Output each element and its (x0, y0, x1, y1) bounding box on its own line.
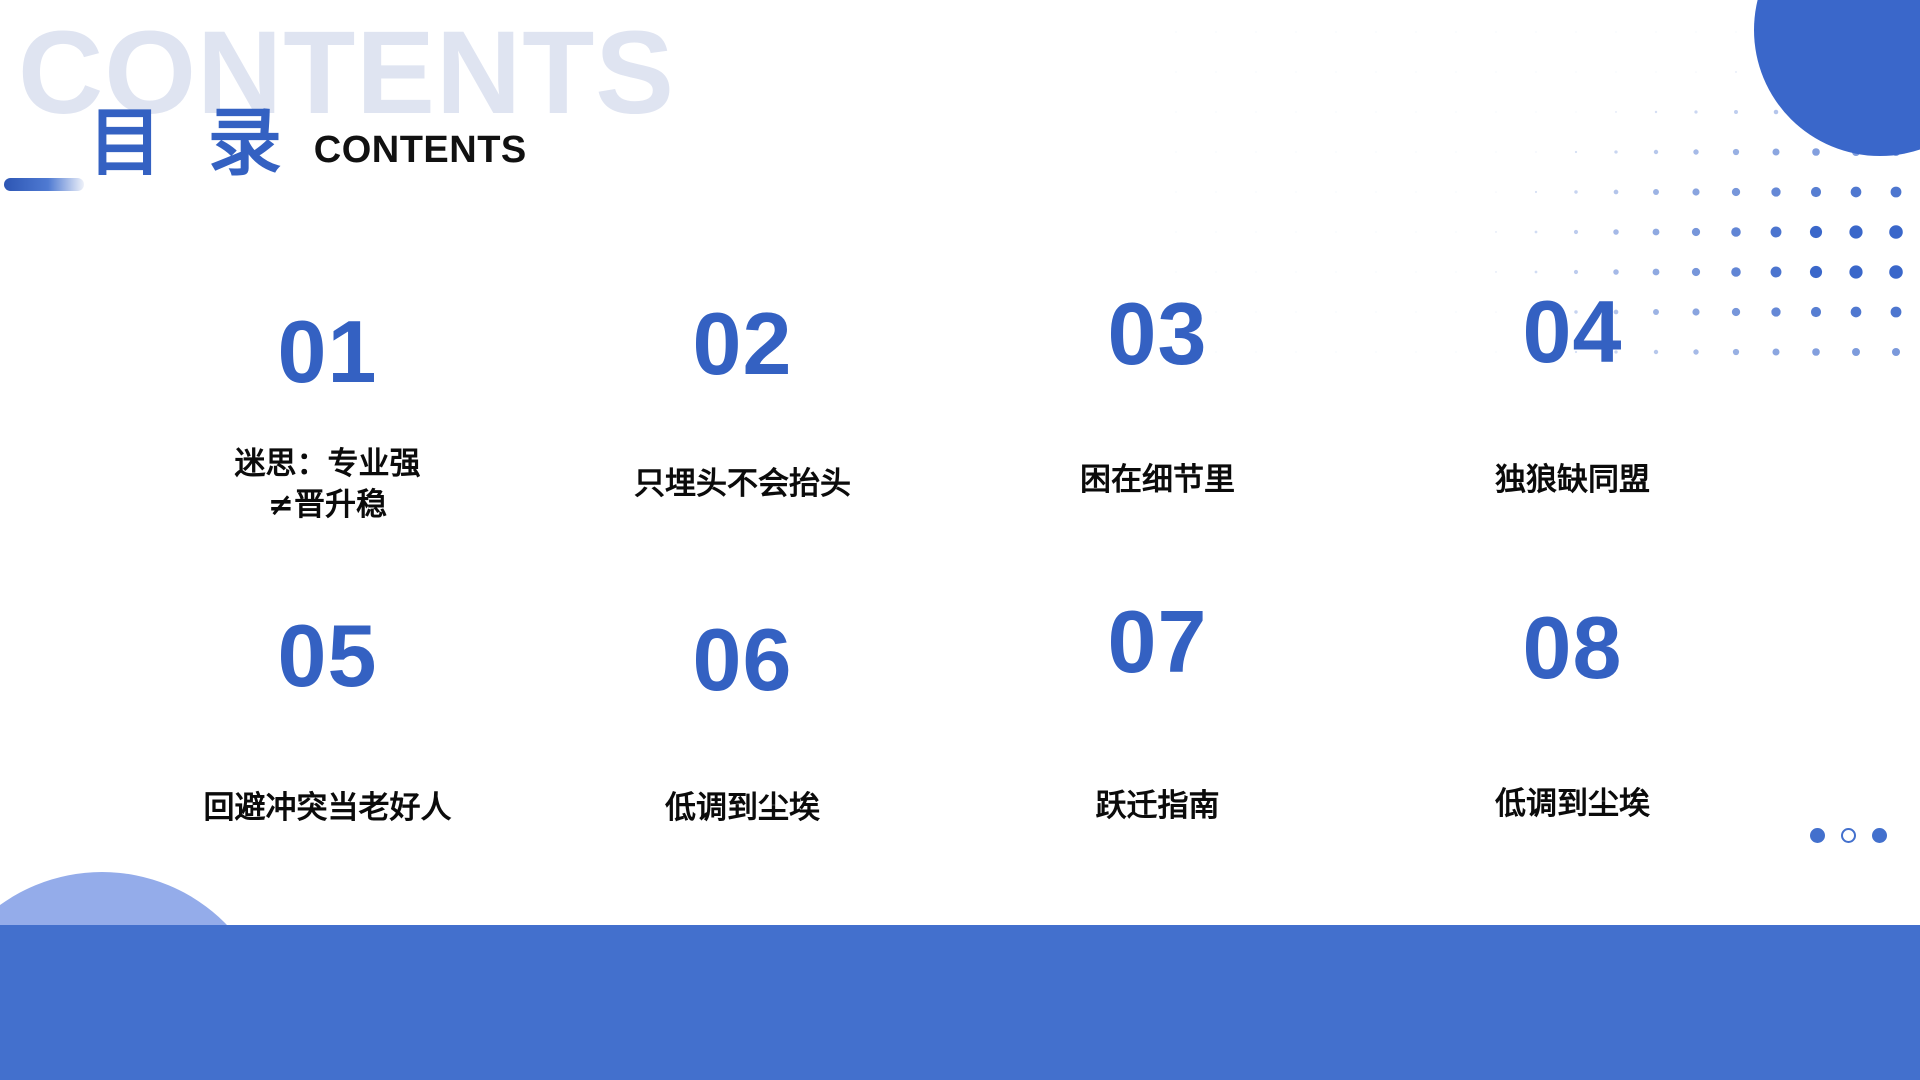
item-label: 低调到尘埃 (665, 788, 820, 829)
contents-grid: 01 迷思：专业强 ≠晋升稳 02 只埋头不会抬头 03 困在细节里 04 独狼… (120, 300, 1780, 900)
pagination-dot-1[interactable] (1810, 828, 1825, 843)
page-title: 目 录 CONTENTS (88, 108, 527, 178)
slide-canvas: CONTENTS 目 录 CONTENTS 01 迷思：专业强 ≠晋升稳 02 … (0, 0, 1920, 1080)
contents-item-08[interactable]: 08 低调到尘埃 (1365, 600, 1780, 900)
title-underline-decoration (4, 178, 84, 191)
item-label: 回避冲突当老好人 (204, 788, 452, 829)
pagination-dot-2[interactable] (1841, 828, 1856, 843)
item-number: 04 (1523, 288, 1623, 376)
item-number: 08 (1523, 604, 1623, 692)
item-label: 低调到尘埃 (1495, 784, 1650, 825)
item-label: 迷思：专业强 ≠晋升稳 (235, 444, 421, 526)
contents-item-07[interactable]: 07 跃迁指南 (950, 600, 1365, 900)
item-label: 独狼缺同盟 (1495, 460, 1650, 501)
contents-item-03[interactable]: 03 困在细节里 (950, 300, 1365, 600)
item-number: 03 (1108, 290, 1208, 378)
page-title-cn: 目 录 (88, 108, 292, 178)
item-label: 跃迁指南 (1096, 786, 1220, 827)
contents-item-01[interactable]: 01 迷思：专业强 ≠晋升稳 (120, 300, 535, 600)
bottom-blue-band-decoration (0, 925, 1920, 1080)
page-title-en: CONTENTS (314, 129, 527, 178)
pagination-dot-3[interactable] (1872, 828, 1887, 843)
pagination-dots[interactable] (1810, 828, 1887, 843)
item-number: 06 (693, 616, 793, 704)
item-label: 只埋头不会抬头 (634, 464, 851, 505)
item-number: 01 (278, 308, 378, 396)
contents-item-02[interactable]: 02 只埋头不会抬头 (535, 300, 950, 600)
contents-item-06[interactable]: 06 低调到尘埃 (535, 600, 950, 900)
contents-item-04[interactable]: 04 独狼缺同盟 (1365, 300, 1780, 600)
item-label: 困在细节里 (1080, 460, 1235, 501)
item-number: 02 (693, 300, 793, 388)
contents-item-05[interactable]: 05 回避冲突当老好人 (120, 600, 535, 900)
item-number: 05 (278, 612, 378, 700)
item-number: 07 (1108, 598, 1208, 686)
top-right-circle-decoration (1754, 0, 1920, 156)
